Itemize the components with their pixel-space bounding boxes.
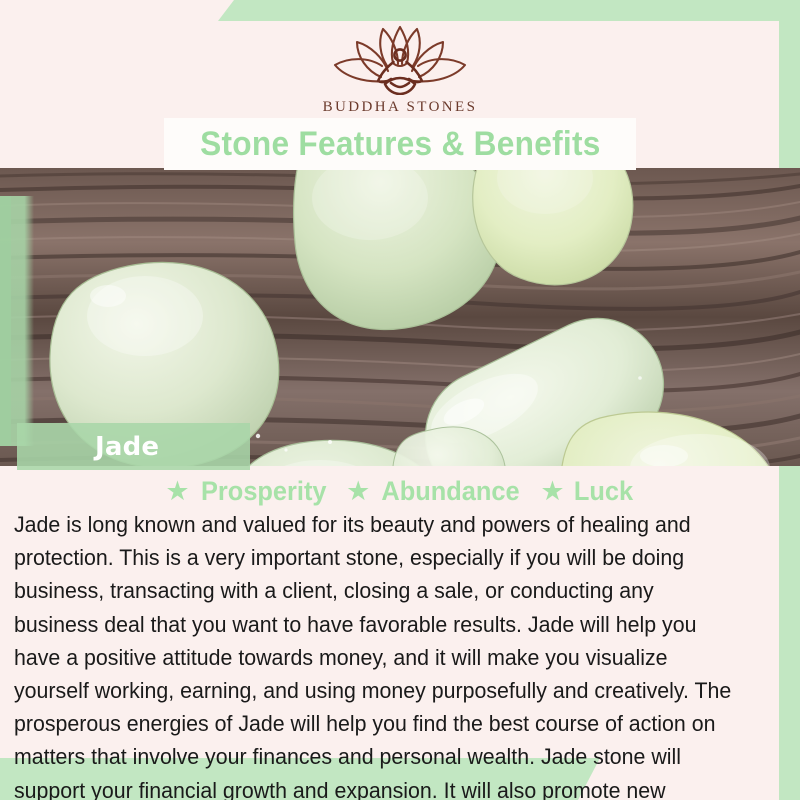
brand-name: BUDDHA STONES — [323, 99, 478, 116]
star-icon: ★ — [346, 478, 370, 505]
stone-name: Jade — [95, 432, 159, 462]
star-icon: ★ — [165, 478, 189, 505]
benefit-item: ★ Abundance — [346, 476, 524, 507]
star-icon: ★ — [540, 478, 564, 505]
stone-description: Jade is long known and valued for its be… — [14, 508, 744, 800]
stone-photo — [0, 168, 800, 466]
benefit-item: ★ Prosperity — [165, 476, 330, 507]
benefit-label: Prosperity — [201, 476, 327, 507]
lotus-meditation-logo-icon — [325, 21, 475, 95]
benefit-label: Luck — [573, 476, 632, 507]
stone-name-band: Jade — [17, 423, 250, 470]
benefits-row: ★ Prosperity ★ Abundance ★ Luck — [0, 476, 800, 507]
page-title: Stone Features & Benefits — [200, 125, 601, 164]
brand-header: BUDDHA STONES — [0, 0, 800, 120]
benefit-label: Abundance — [382, 476, 520, 507]
benefit-item: ★ Luck — [540, 476, 634, 507]
stone-info-poster: BUDDHA STONES Stone Features & Benefits — [0, 0, 800, 800]
decor-left-green-strip — [0, 196, 11, 446]
title-band: Stone Features & Benefits — [164, 118, 636, 170]
brand-logo: BUDDHA STONES — [323, 21, 478, 116]
